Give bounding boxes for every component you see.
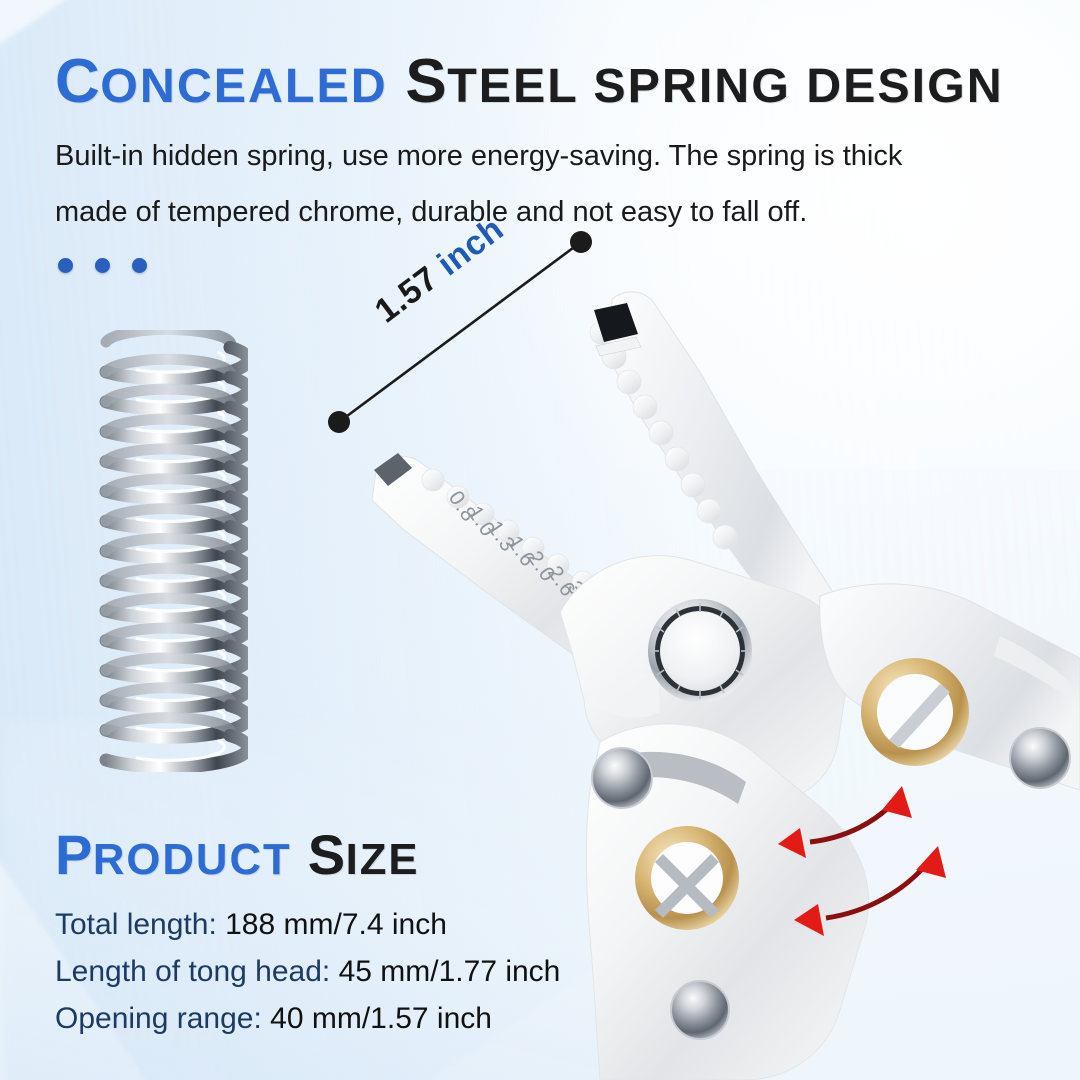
spec-tong-head-label: Length of tong head:: [55, 955, 339, 988]
spec-total-length-label: Total length:: [55, 908, 225, 941]
page-title: CONCEALED STEEL SPRING DESIGN: [55, 46, 1004, 117]
title-plain-rest: TEEL SPRING DESIGN: [447, 59, 1003, 113]
ball-rivet-bottom: [671, 981, 729, 1039]
product-size-heading: PRODUCT SIZE: [55, 822, 420, 887]
coil-spring-illustration: [88, 330, 248, 772]
brass-hole-cross-lower: [635, 826, 739, 930]
spec-tong-head-length: Length of tong head: 45 mm/1.77 inch: [55, 955, 560, 989]
size-highlight-rest: RODUCT: [93, 835, 292, 884]
pivot-rivet: [648, 599, 752, 703]
subtitle-line-1: Built-in hidden spring, use more energy-…: [55, 140, 902, 173]
dot-3: [132, 258, 147, 273]
ball-rivet-right: [1010, 728, 1070, 788]
spec-total-length-value: 188 mm/7.4 inch: [225, 908, 447, 941]
spec-opening-range-value: 40 mm/1.57 inch: [270, 1002, 492, 1035]
title-highlight-cap: C: [55, 47, 100, 116]
spec-total-length: Total length: 188 mm/7.4 inch: [55, 908, 447, 942]
title-highlight-rest: ONCEALED: [100, 59, 387, 113]
spec-opening-range: Opening range: 40 mm/1.57 inch: [55, 1002, 492, 1036]
dot-1: [58, 258, 73, 273]
size-plain-rest: IZE: [346, 835, 420, 884]
dot-2: [95, 258, 110, 273]
product-infographic: 0.8 1.0 1.3 1.6 2.0 2.6 3.2 MM: [0, 0, 1080, 1080]
spec-tong-head-value: 45 mm/1.77 inch: [339, 955, 561, 988]
title-plain-cap: S: [405, 47, 447, 116]
decorative-dots: [58, 258, 169, 278]
ball-rivet-mid: [592, 748, 652, 808]
subtitle-line-2: made of tempered chrome, durable and not…: [55, 196, 807, 229]
size-plain-cap: S: [308, 823, 346, 886]
brass-hole-upper: [861, 658, 969, 766]
spec-opening-range-label: Opening range:: [55, 1002, 270, 1035]
size-highlight-cap: P: [55, 823, 93, 886]
